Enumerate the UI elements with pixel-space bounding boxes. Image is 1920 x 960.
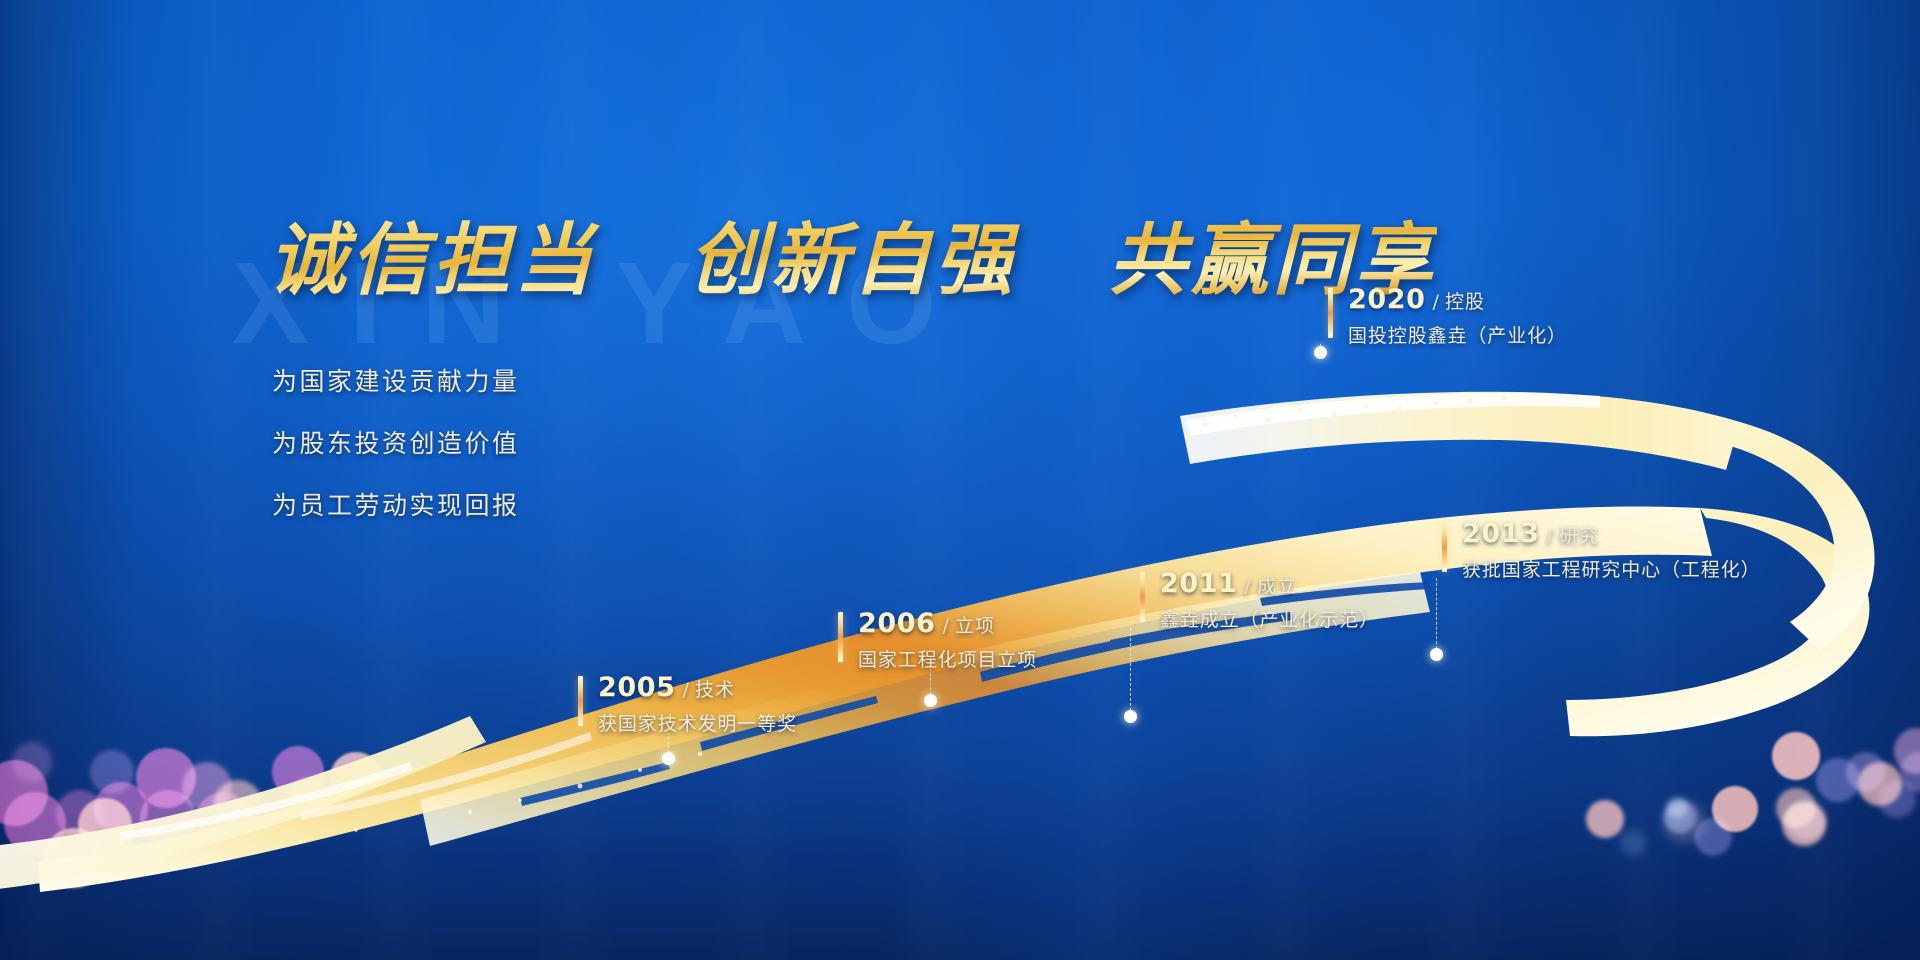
milestone-2011-leader-line (1130, 628, 1131, 716)
milestone-2013-accent-bar (1442, 522, 1447, 572)
milestone-2020-year: 2020/控股 (1348, 284, 1485, 315)
milestone-2011-year: 2011/成立 (1160, 568, 1297, 599)
bokeh-circle (1772, 732, 1820, 780)
bokeh-circle (1586, 800, 1624, 838)
subtitle-line-3: 为员工劳动实现回报 (272, 486, 520, 522)
headline-part-2: 创新自强 (688, 216, 1016, 306)
subtitle-line-2: 为股东投资创造价值 (272, 424, 520, 460)
milestone-2013-separator: / (1547, 525, 1554, 547)
milestone-2013-year: 2013/研究 (1462, 518, 1599, 549)
bokeh-circle (1662, 800, 1706, 844)
brushstroke-ribbon (0, 0, 1920, 960)
milestone-2020-category: 控股 (1445, 291, 1485, 313)
bokeh-circle (1786, 800, 1826, 840)
bokeh-circle (1878, 780, 1916, 818)
milestone-2020-description: 国投控股鑫垚（产业化） (1348, 321, 1567, 348)
milestone-2011-category: 成立 (1257, 575, 1297, 597)
milestone-2005-description: 获国家技术发明一等奖 (598, 709, 797, 736)
banner-canvas: XIN YAO 诚信担当 创新自强 共赢同享 为国家建设贡献力量 为股东投资创造… (0, 0, 1920, 960)
milestone-2005-accent-bar (578, 676, 583, 726)
milestone-2006-node-dot[interactable] (924, 694, 937, 707)
milestone-2005-year: 2005/技术 (598, 672, 735, 703)
milestone-2020-separator: / (1433, 291, 1440, 313)
milestone-2005-separator: / (683, 679, 690, 701)
milestone-2006-separator: / (943, 615, 950, 637)
milestone-2006-year: 2006/立项 (858, 608, 995, 639)
milestone-2005-category: 技术 (695, 679, 735, 701)
milestone-2020-accent-bar (1328, 288, 1333, 338)
milestone-2013-category: 研究 (1559, 525, 1599, 547)
milestone-2006-category: 立项 (955, 615, 995, 637)
milestone-2013-node-dot[interactable] (1430, 648, 1443, 661)
page-title: 诚信担当 创新自强 共赢同享 (268, 198, 1437, 310)
milestone-2011-separator: / (1245, 575, 1252, 597)
milestone-2011-accent-bar (1140, 572, 1145, 622)
milestone-2011-description: 鑫垚成立（产业化示范） (1160, 605, 1379, 632)
milestone-2013-description: 获批国家工程研究中心（工程化） (1462, 555, 1761, 582)
milestone-2006-description: 国家工程化项目立项 (858, 645, 1037, 672)
bokeh-circle (1620, 830, 1646, 856)
milestone-2020-node-dot[interactable] (1314, 346, 1327, 359)
milestone-2011-node-dot[interactable] (1124, 710, 1137, 723)
subtitle-line-1: 为国家建设贡献力量 (272, 362, 520, 398)
milestone-2013-leader-line (1436, 578, 1437, 654)
headline-part-1: 诚信担当 (268, 216, 596, 306)
milestone-2006-accent-bar (838, 612, 843, 662)
milestone-2005-node-dot[interactable] (662, 752, 675, 765)
